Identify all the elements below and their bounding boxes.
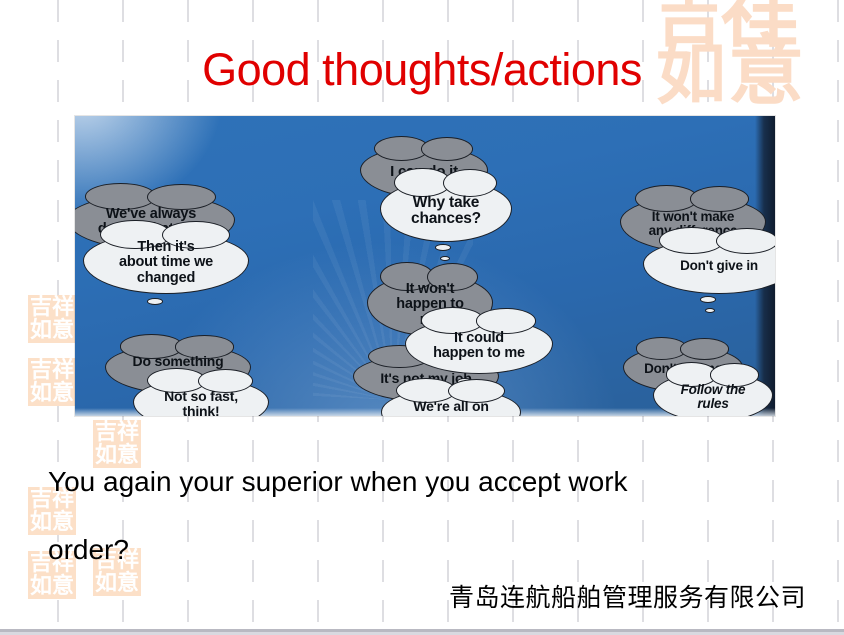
seal-glyph: 如 [30,319,51,341]
thought-bubble-tail [435,244,451,251]
thought-bubble-positive: Not so fast,think! [133,378,269,416]
seal-glyph: 祥 [117,421,138,443]
body-line: order? [48,516,808,584]
seal-glyph: 如 [30,382,51,404]
slide-title: Good thoughts/actions [0,44,844,96]
seal-glyph: 吉 [95,421,116,443]
slide-canvas: 吉 祥 如 意 吉祥如意吉祥如意吉祥如意吉祥如意吉祥如意吉祥如意吉祥如意 Goo… [0,0,844,635]
thought-bubble-positive: Follow therules [653,372,773,416]
seal-glyph: 意 [52,319,73,341]
slide-photo: We've alwaysdone it that wayThen it'sabo… [75,116,775,416]
thought-bubble-tail [705,308,715,313]
seal-watermark-small-icon: 吉祥如意 [28,358,76,406]
thought-bubble-tail [440,256,450,261]
seal-glyph: 祥 [52,296,73,318]
thought-bubble-positive: We're all onthe same ship [381,388,521,416]
thought-bubble-tail [700,296,716,303]
slide-body-text: You again your superior when you accept … [48,448,808,584]
thought-bubble-tail [147,298,163,305]
slide-footer-company: 青岛连航船舶管理服务有限公司 [449,578,806,614]
slide-bottom-border [0,628,844,635]
seal-glyph: 吉 [30,359,51,381]
seal-glyph: 祥 [52,359,73,381]
body-line: You again your superior when you accept … [48,448,808,516]
seal-glyph: 意 [52,382,73,404]
seal-watermark-small-icon: 吉祥如意 [28,295,76,343]
seal-glyph: 吉 [30,296,51,318]
